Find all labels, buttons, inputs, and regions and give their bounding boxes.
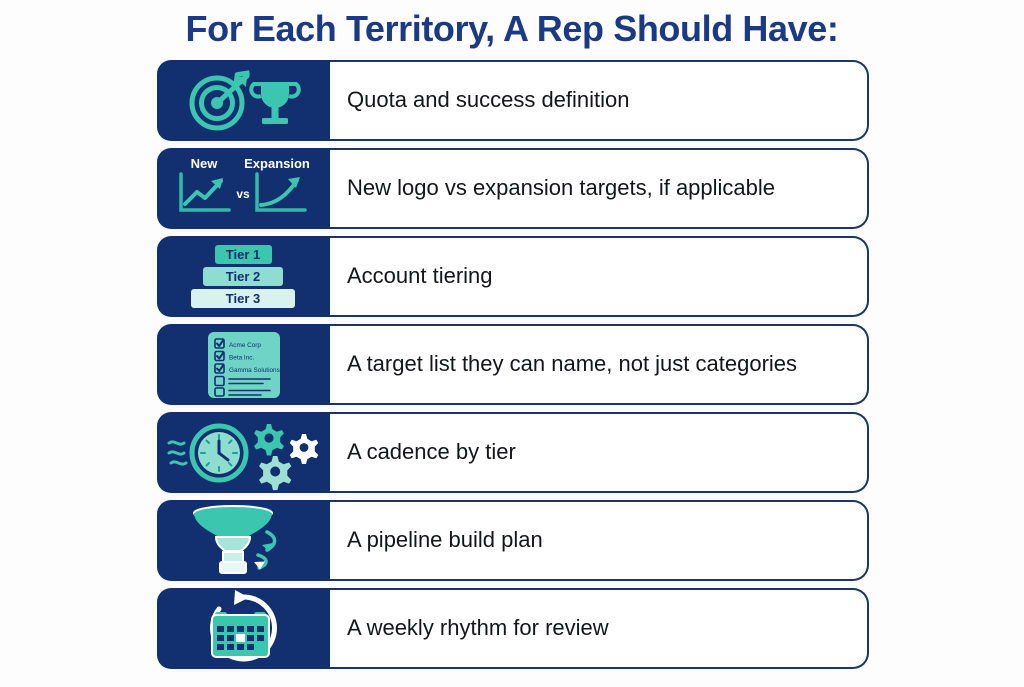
calendar-refresh-icon (157, 588, 330, 669)
funnel-icon (157, 500, 330, 581)
list-item-label: A cadence by tier (347, 440, 516, 464)
list-item-label: A pipeline build plan (347, 528, 543, 552)
icon-panel: Tier 1 Tier 2 Tier 3 (157, 236, 330, 317)
new-vs-expansion-charts-icon: New Expansion vs (157, 148, 330, 229)
gear-icon (290, 434, 319, 464)
list-item-label: Account tiering (347, 264, 493, 288)
infographic-page: For Each Territory, A Rep Should Have: (0, 0, 1024, 687)
icon-panel (157, 588, 330, 669)
tier-3-label: Tier 3 (226, 291, 260, 306)
icon-panel: Acme Corp Beta Inc. Gamma Solutions (157, 324, 330, 405)
text-panel: Account tiering (330, 236, 869, 317)
list-item: A pipeline build plan (157, 500, 869, 581)
list-item-label: New logo vs expansion targets, if applic… (347, 176, 775, 200)
target-trophy-icon (157, 60, 330, 141)
motion-lines-icon (169, 442, 186, 464)
icon-panel (157, 412, 330, 493)
text-panel: A weekly rhythm for review (330, 588, 869, 669)
list-item: Acme Corp Beta Inc. Gamma Solutions A ta… (157, 324, 869, 405)
text-panel: A target list they can name, not just ca… (330, 324, 869, 405)
page-title: For Each Territory, A Rep Should Have: (0, 8, 1024, 50)
icon-panel (157, 60, 330, 141)
checklist-item-1: Acme Corp (229, 342, 261, 349)
tier-1-label: Tier 1 (226, 247, 260, 262)
checklist-item-3: Gamma Solutions (229, 367, 280, 374)
clock-gears-icon (157, 412, 330, 493)
list-item: Tier 1 Tier 2 Tier 3 Account tiering (157, 236, 869, 317)
icon-panel (157, 500, 330, 581)
list-item: Quota and success definition (157, 60, 869, 141)
checklist-icon: Acme Corp Beta Inc. Gamma Solutions (157, 324, 330, 405)
list-item-label: A target list they can name, not just ca… (347, 352, 797, 376)
list-item-label: Quota and success definition (347, 88, 630, 112)
chart-label-expansion: Expansion (244, 156, 310, 171)
list-item: A cadence by tier (157, 412, 869, 493)
checklist-rows: Quota and success definition New Expansi… (157, 60, 869, 676)
tier-2-label: Tier 2 (226, 269, 260, 284)
gear-icon (254, 424, 284, 456)
text-panel: A cadence by tier (330, 412, 869, 493)
list-item-label: A weekly rhythm for review (347, 616, 609, 640)
gear-icon (259, 456, 291, 490)
checklist-item-2: Beta Inc. (229, 355, 254, 362)
text-panel: Quota and success definition (330, 60, 869, 141)
icon-panel: New Expansion vs (157, 148, 330, 229)
text-panel: New logo vs expansion targets, if applic… (330, 148, 869, 229)
list-item: New Expansion vs New logo vs ex (157, 148, 869, 229)
chart-label-new: New (191, 156, 219, 171)
list-item: A weekly rhythm for review (157, 588, 869, 669)
chart-label-vs: vs (236, 187, 250, 201)
tier-pyramid-icon: Tier 1 Tier 2 Tier 3 (157, 236, 330, 317)
text-panel: A pipeline build plan (330, 500, 869, 581)
